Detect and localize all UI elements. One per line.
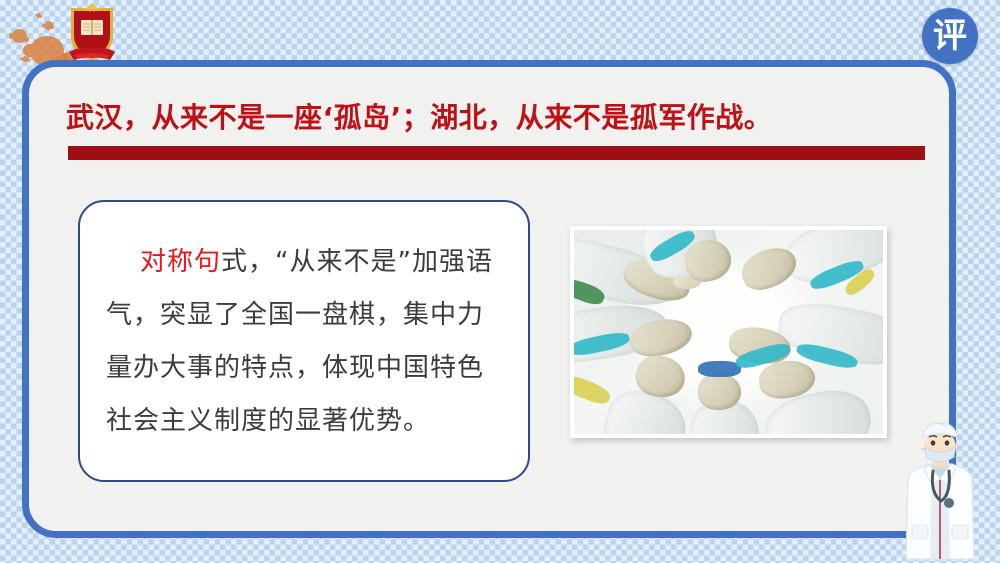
commentary-textbox: 对称句式，“从来不是”加强语气，突显了全国一盘棋，集中力量办大事的特点，体现中国… [78, 200, 530, 482]
commentary-text: 对称句式，“从来不是”加强语气，突显了全国一盘棋，集中力量办大事的特点，体现中国… [106, 236, 506, 448]
page-title: 武汉，从来不是一座‘孤岛’；湖北，从来不是孤军作战。 [66, 96, 946, 136]
section-badge-label: 评 [933, 19, 967, 53]
section-badge[interactable]: 评 [922, 8, 978, 64]
splatter-decoration [12, 29, 27, 43]
cartoon-doctor-mascot [894, 421, 986, 563]
photo-frame [570, 226, 887, 438]
splatter-decoration [36, 13, 41, 18]
commentary-highlight: 对称句 [140, 247, 221, 277]
school-crest-icon [65, 2, 119, 64]
splatter-decoration [22, 56, 29, 62]
slide-canvas: 评 武汉，从来不是一座‘孤岛’；湖北，从来不是孤军作战。 对称句式，“从来不是”… [0, 0, 1000, 563]
splatter-decoration [44, 21, 53, 30]
title-underline-bar [68, 146, 925, 160]
medical-workers-thumbs-up-photo [574, 230, 883, 434]
